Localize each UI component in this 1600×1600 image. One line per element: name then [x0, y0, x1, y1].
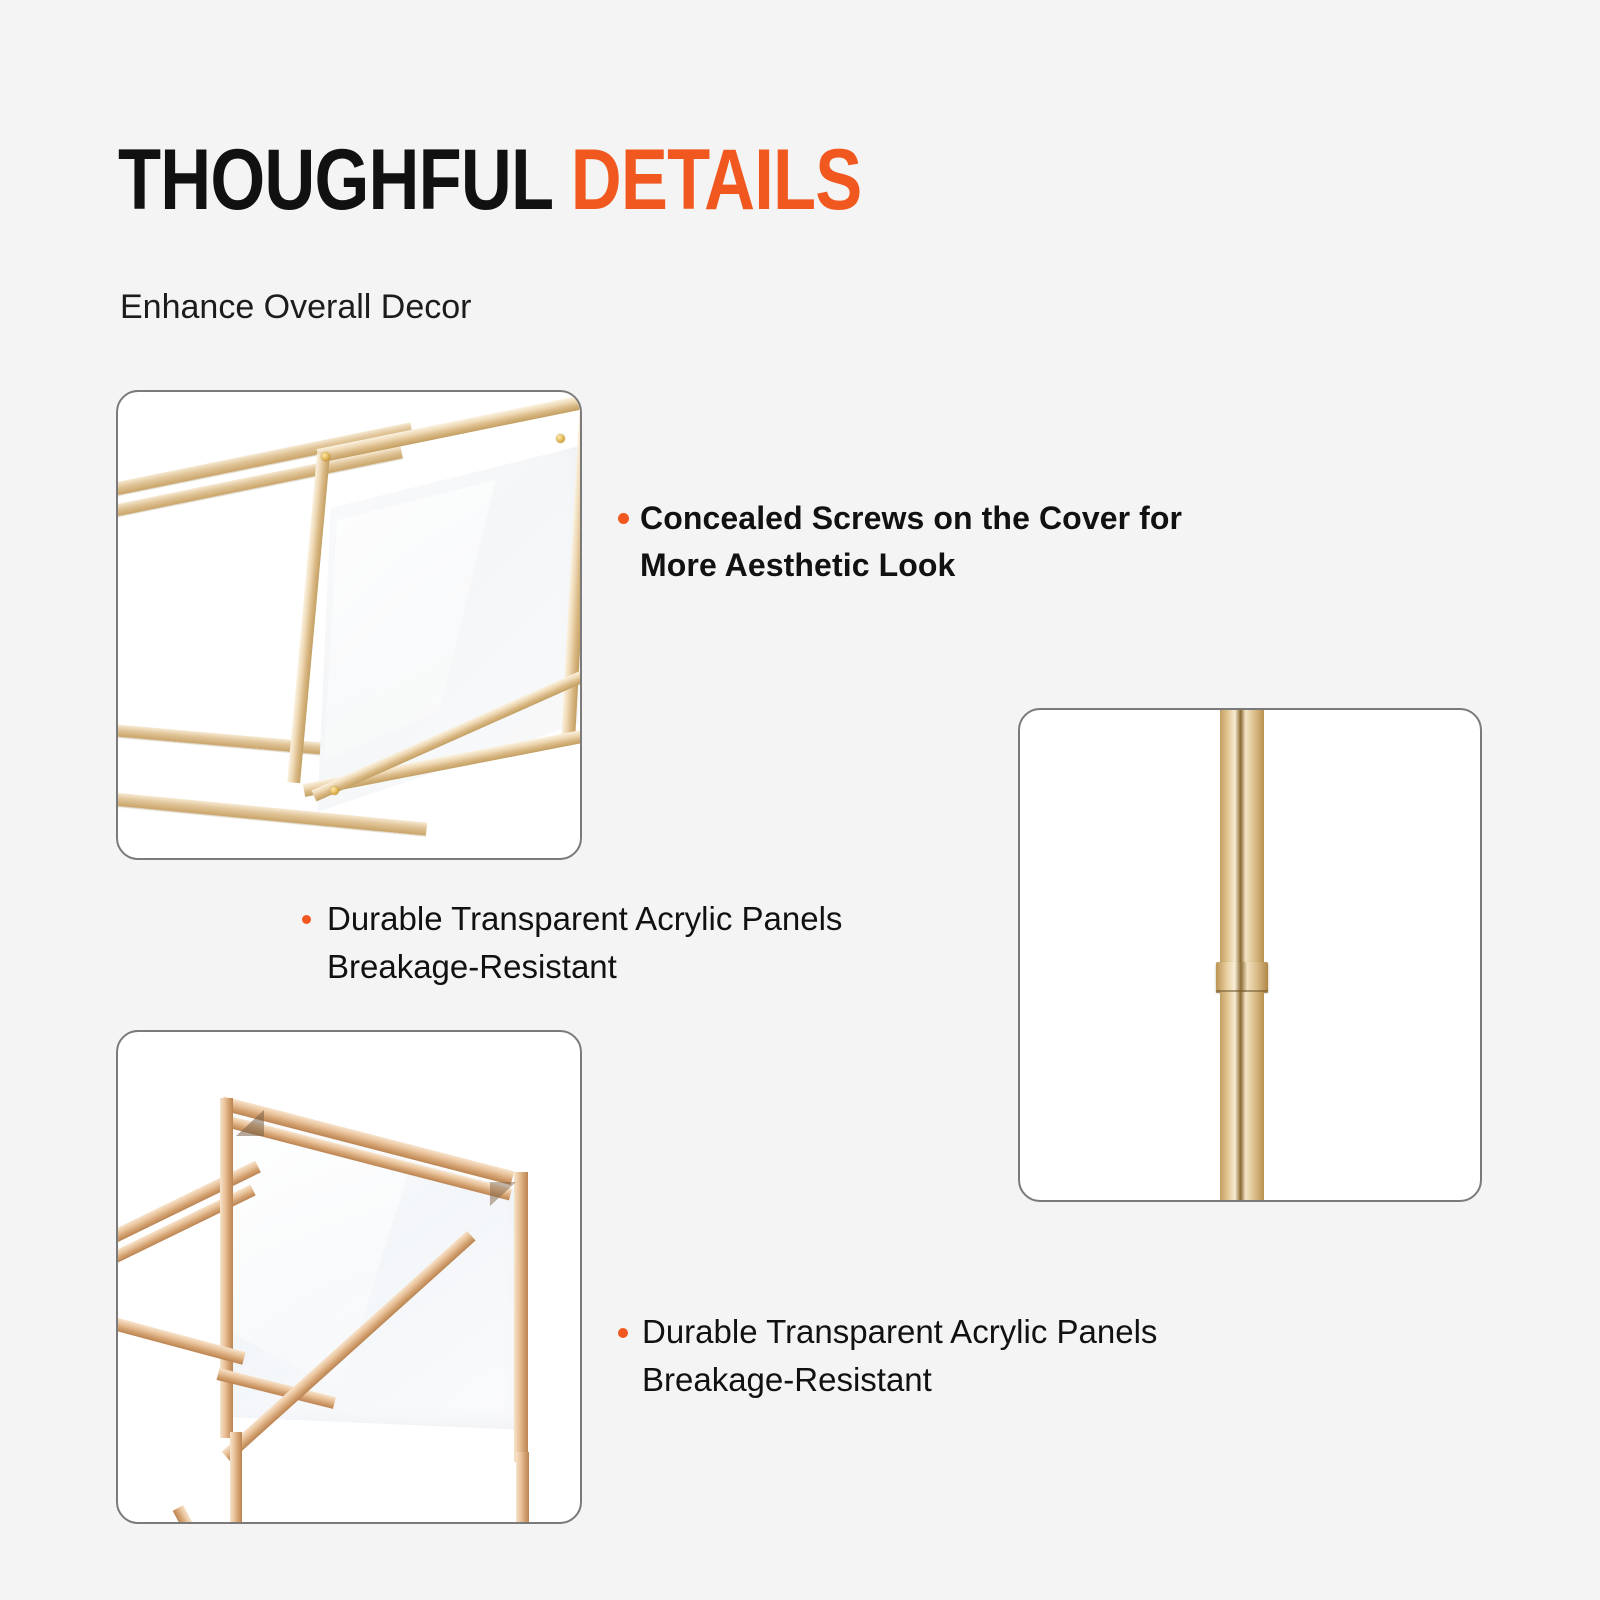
- feature-line-1: Durable Transparent Acrylic Panels: [327, 900, 842, 937]
- concealed-screw-icon: [330, 786, 339, 795]
- concealed-screw-icon: [321, 452, 330, 461]
- feature-acrylic-panels-lower: Durable Transparent Acrylic Panels Break…: [618, 1308, 1318, 1404]
- concealed-screw-icon: [556, 434, 565, 443]
- feature-acrylic-panels-upper: Durable Transparent Acrylic Panels Break…: [302, 895, 1002, 991]
- rose-gold-leg-left: [230, 1432, 242, 1522]
- gold-tube-lower: [1220, 992, 1264, 1200]
- feature-line-2: Breakage-Resistant: [642, 1361, 932, 1398]
- page-title: THOUGHFUL DETAILS: [118, 134, 861, 226]
- gold-tube-upper: [1220, 710, 1264, 964]
- photo-gold-leg-joint: [1020, 710, 1480, 1200]
- feature-line-1: Durable Transparent Acrylic Panels: [642, 1313, 1157, 1350]
- feature-concealed-screws: Concealed Screws on the Cover for More A…: [618, 495, 1318, 589]
- gold-tube-collar-joint: [1216, 962, 1268, 992]
- rose-gold-leg-right: [516, 1452, 529, 1522]
- bullet-dot-icon: [302, 915, 311, 924]
- page-title-primary: THOUGHFUL: [118, 132, 571, 228]
- feature-line-2: Breakage-Resistant: [327, 948, 617, 985]
- bullet-dot-icon: [618, 513, 629, 524]
- photo-tilted-acrylic-panel: [118, 392, 580, 858]
- rose-gold-post-left: [220, 1098, 233, 1438]
- bullet-dot-icon: [618, 1328, 628, 1338]
- frame-corner-shadow: [490, 1182, 516, 1206]
- photo-card-tilted-acrylic-panel: [116, 390, 582, 860]
- photo-card-cube-frame: [116, 1030, 582, 1524]
- feature-line-2: More Aesthetic Look: [640, 547, 955, 583]
- page-title-accent: DETAILS: [571, 132, 862, 228]
- promo-stage: THOUGHFUL DETAILS Enhance Overall Decor: [0, 0, 1600, 1600]
- page-subtitle: Enhance Overall Decor: [120, 286, 472, 328]
- gold-rail-bottom-back-2: [118, 790, 427, 836]
- feature-text: Concealed Screws on the Cover for More A…: [640, 495, 1182, 589]
- gold-frame-bar-top: [317, 395, 580, 463]
- photo-card-gold-leg-joint: [1018, 708, 1482, 1202]
- feature-text: Durable Transparent Acrylic Panels Break…: [642, 1308, 1157, 1404]
- rose-gold-cross-brace-2: [173, 1505, 268, 1522]
- feature-text: Durable Transparent Acrylic Panels Break…: [327, 895, 842, 991]
- rose-gold-post-right: [514, 1172, 528, 1462]
- photo-cube-frame-cross-brace: [118, 1032, 580, 1522]
- frame-corner-shadow: [236, 1110, 264, 1136]
- feature-line-1: Concealed Screws on the Cover for: [640, 500, 1182, 536]
